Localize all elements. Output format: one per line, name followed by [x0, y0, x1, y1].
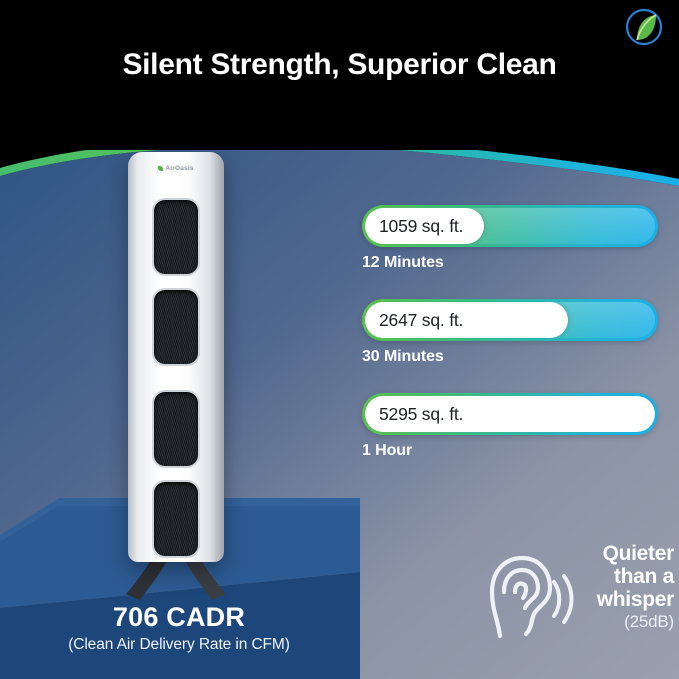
coverage-time-label: 1 Hour	[362, 442, 662, 460]
cadr-value: 706 CADR	[0, 602, 358, 633]
noise-line-1: Quieter	[574, 542, 674, 565]
product-vent	[154, 200, 198, 274]
ear-sound-waves-icon	[482, 548, 578, 648]
noise-line-3: whisper	[574, 588, 674, 611]
infographic-canvas: AirOasis Silent Strength, Superior Clean…	[0, 0, 679, 679]
coverage-stat-row: 1059 sq. ft. 12 Minutes	[362, 205, 662, 272]
coverage-area-value: 2647 sq. ft.	[379, 299, 463, 341]
leaf-circle-logo	[623, 6, 665, 48]
coverage-area-value: 1059 sq. ft.	[379, 205, 463, 247]
coverage-stats-list: 1059 sq. ft. 12 Minutes 2647 sq. ft. 30 …	[362, 205, 662, 487]
noise-level-block: Quieter than a whisper (25dB)	[482, 542, 672, 654]
coverage-stat-row: 2647 sq. ft. 30 Minutes	[362, 299, 662, 366]
brand-leaf-icon	[158, 166, 163, 171]
coverage-progress-bar[interactable]: 2647 sq. ft.	[362, 299, 658, 341]
coverage-stat-row: 5295 sq. ft. 1 Hour	[362, 393, 662, 460]
cadr-block: 706 CADR (Clean Air Delivery Rate in CFM…	[0, 602, 358, 654]
cadr-description: (Clean Air Delivery Rate in CFM)	[0, 636, 358, 654]
product-vent	[154, 290, 198, 364]
coverage-progress-bar[interactable]: 5295 sq. ft.	[362, 393, 658, 435]
product-housing: AirOasis	[128, 152, 224, 562]
noise-line-2: than a	[574, 565, 674, 588]
coverage-area-value: 5295 sq. ft.	[379, 393, 463, 435]
product-vent	[154, 392, 198, 466]
coverage-time-label: 12 Minutes	[362, 254, 662, 272]
product-vent	[154, 482, 198, 556]
noise-decibels: (25dB)	[574, 612, 674, 632]
noise-level-text: Quieter than a whisper (25dB)	[574, 542, 674, 632]
product-brand-label: AirOasis	[128, 165, 224, 172]
air-purifier-product: AirOasis	[128, 152, 224, 570]
coverage-time-label: 30 Minutes	[362, 348, 662, 366]
coverage-progress-bar[interactable]: 1059 sq. ft.	[362, 205, 658, 247]
header-bar: Silent Strength, Superior Clean	[0, 0, 679, 150]
page-title: Silent Strength, Superior Clean	[0, 48, 679, 82]
